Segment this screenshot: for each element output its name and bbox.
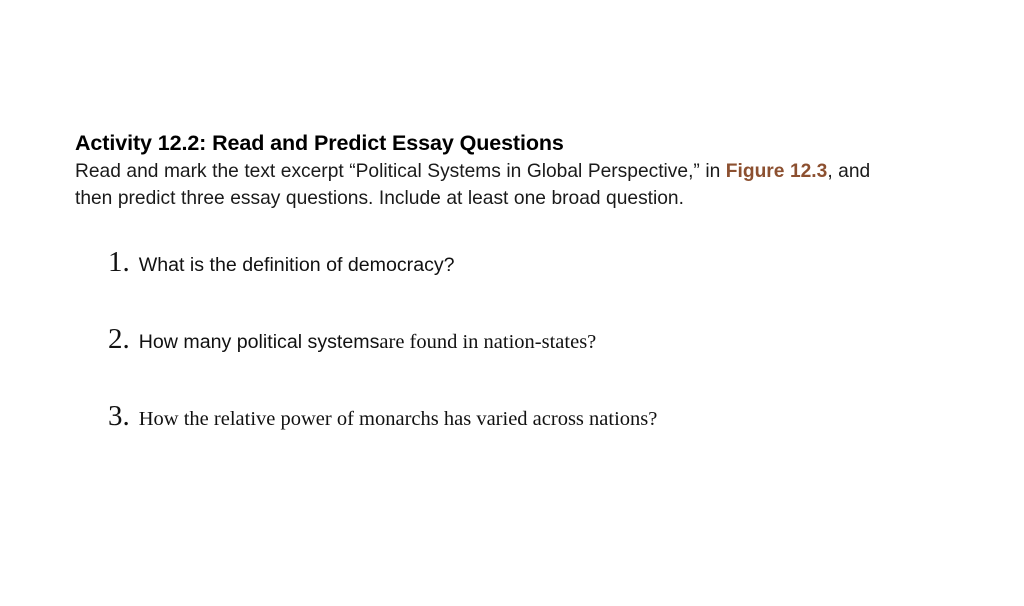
list-item-number: 3. (108, 402, 130, 431)
list-item: 1.What is the definition of democracy? (108, 248, 968, 325)
activity-header: Activity 12.2: Read and Predict Essay Qu… (75, 131, 915, 212)
page-title: Activity 12.2: Read and Predict Essay Qu… (75, 131, 915, 156)
list-item-text-sans: What is the definition of democracy? (139, 256, 455, 276)
list-item-text-serif: are found in nation-states? (379, 332, 596, 353)
list-item-number: 1. (108, 248, 130, 277)
slide-canvas: Activity 12.2: Read and Predict Essay Qu… (0, 0, 1024, 606)
list-item: 3.How the relative power of monarchs has… (108, 402, 968, 479)
list-item-text-serif: How the relative power of monarchs has v… (139, 409, 658, 430)
figure-reference: Figure 12.3 (726, 161, 828, 182)
predicted-questions-list: 1.What is the definition of democracy? 2… (108, 248, 968, 479)
description-part-one: Read and mark the text excerpt “Politica… (75, 161, 726, 182)
list-item-text-sans: How many political systems (139, 333, 380, 353)
list-item: 2.How many political systems are found i… (108, 325, 968, 402)
activity-description: Read and mark the text excerpt “Politica… (75, 159, 909, 212)
list-item-number: 2. (108, 325, 130, 354)
